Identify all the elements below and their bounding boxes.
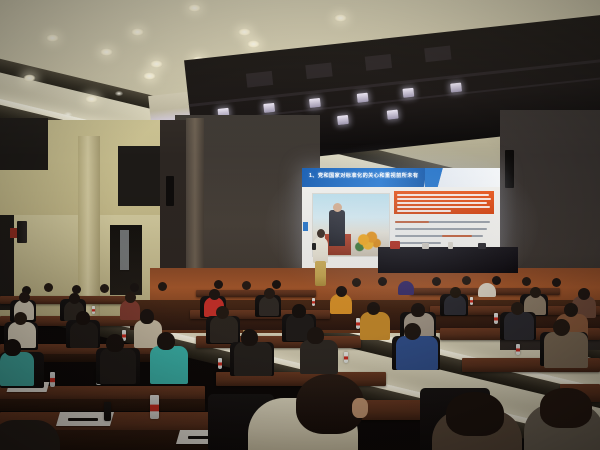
downlight-icon (150, 60, 163, 68)
audience-torso (210, 316, 238, 343)
audience-head (158, 282, 167, 291)
callout-text-line (397, 206, 490, 208)
audience-torso (0, 420, 60, 450)
audience-head (378, 277, 387, 286)
stage-light-icon (263, 103, 275, 113)
audience-head (44, 283, 53, 292)
loudspeaker (166, 176, 174, 206)
audience-hair (4, 339, 21, 356)
audience-torso (259, 296, 279, 316)
callout-text-line (397, 210, 451, 212)
exit-sign-icon (10, 228, 17, 238)
slide-side-tab (303, 222, 308, 231)
stage-table (378, 247, 518, 273)
downlight-icon (100, 48, 113, 56)
callout-text-line (397, 198, 491, 200)
audience-head (522, 277, 531, 286)
audience-head (336, 286, 347, 297)
downlight-icon (238, 28, 251, 36)
audience-torso (234, 342, 272, 376)
downlight-icon (334, 14, 347, 22)
audience-torso (70, 322, 98, 348)
truss-fixture (365, 54, 392, 71)
slide-body-line (395, 242, 441, 244)
audience-torso (300, 340, 338, 374)
audience-head (14, 312, 27, 325)
downlight-icon (85, 95, 98, 103)
slide-header-accent (425, 168, 500, 187)
slide-body-line (395, 228, 487, 230)
audience-head (209, 289, 220, 300)
table-object (478, 243, 486, 249)
audience-hair (446, 392, 504, 436)
audience-head (125, 292, 136, 303)
audience-torso (120, 300, 140, 320)
audience-torso (478, 283, 496, 297)
audience-head (216, 306, 229, 319)
audience-hair (140, 309, 154, 324)
audience-hair (157, 332, 175, 350)
audience-torso (398, 281, 414, 295)
audience-hair (106, 334, 124, 352)
desk-front (0, 399, 205, 411)
water-bottle (470, 297, 473, 305)
table-object (422, 243, 429, 249)
audience-hair (307, 327, 324, 344)
audience-head (553, 319, 570, 336)
loudspeaker (505, 150, 514, 188)
downlight-icon (64, 112, 72, 117)
audience-head (242, 281, 251, 290)
water-bottle (218, 358, 222, 369)
water-bottle (50, 372, 55, 387)
audience-head (530, 287, 541, 298)
microphone-icon (312, 243, 316, 250)
downlight-icon (247, 40, 260, 48)
audience-head (264, 288, 275, 299)
stage-light-icon (450, 83, 462, 93)
pen (68, 418, 98, 421)
doorway-light (120, 230, 129, 270)
audience-head (367, 302, 380, 315)
audience-head (404, 323, 421, 340)
stage-light-icon (357, 93, 369, 103)
photo-speaker-head (333, 203, 342, 212)
water-bottle (312, 298, 315, 306)
audience-head (352, 398, 368, 418)
audience-hair (411, 303, 425, 317)
audience-head (564, 303, 578, 317)
downlight-icon (23, 74, 36, 82)
audience-head (578, 288, 590, 300)
audience-torso (100, 348, 136, 384)
water-bottle (92, 306, 95, 314)
audience-hair (76, 311, 90, 325)
stage-light-icon (387, 110, 399, 120)
water-bottle (150, 395, 159, 419)
loudspeaker (17, 221, 27, 243)
conference-hall-photo: 1、党和国家对标准化的关心和重视前所未有 (0, 0, 600, 450)
structural-column (186, 118, 204, 293)
water-bottle (494, 313, 498, 324)
audience-torso (0, 352, 34, 386)
downlight-icon (131, 28, 144, 36)
photo-speaker-body (329, 210, 345, 246)
audience-head (462, 276, 471, 285)
audience-hair (292, 304, 306, 318)
wall-acoustic-panel (0, 118, 48, 170)
audience-head (69, 293, 80, 304)
structural-column (78, 136, 100, 316)
slide-callout-box (394, 191, 494, 214)
slide-body-highlight (442, 235, 472, 237)
audience-head (214, 280, 223, 289)
audience-head (432, 277, 441, 286)
presenter-head (317, 229, 325, 238)
audience-head (19, 292, 30, 303)
audience-torso (396, 336, 438, 370)
presenter-legs (315, 261, 326, 286)
thermos (104, 402, 111, 421)
callout-text-line (397, 202, 487, 204)
audience-torso (330, 294, 352, 314)
audience-head (272, 280, 281, 289)
audience-torso (444, 295, 466, 315)
truss-fixture (305, 62, 332, 79)
audience-head (130, 283, 139, 292)
truss-fixture (424, 46, 451, 63)
audience-torso (360, 312, 390, 340)
audience-torso (504, 312, 534, 340)
callout-text-line (397, 194, 489, 196)
stage-light-icon (402, 88, 414, 98)
audience-head (492, 276, 501, 285)
stage-light-icon (337, 115, 349, 125)
presenter-torso (313, 237, 328, 263)
audience-hair (241, 329, 258, 346)
slide-title: 1、党和国家对标准化的关心和重视前所未有 (309, 172, 418, 179)
downlight-icon (46, 34, 59, 42)
table-object (390, 241, 400, 249)
water-bottle (516, 344, 520, 355)
slide-body-highlight (395, 221, 429, 223)
audience-torso (544, 332, 588, 368)
audience-head (552, 278, 561, 287)
audience-head (352, 278, 361, 287)
audience-head (511, 302, 524, 315)
water-bottle (344, 352, 348, 363)
table-object (448, 242, 453, 249)
stage-light-icon (309, 98, 321, 108)
audience-torso (150, 346, 188, 384)
downlight-icon (115, 91, 123, 96)
audience-head (100, 284, 109, 293)
audience-hair (540, 388, 592, 428)
truss-fixture (246, 71, 273, 88)
downlight-icon (188, 4, 201, 12)
downlight-icon (143, 72, 156, 80)
audience-head (450, 287, 461, 298)
